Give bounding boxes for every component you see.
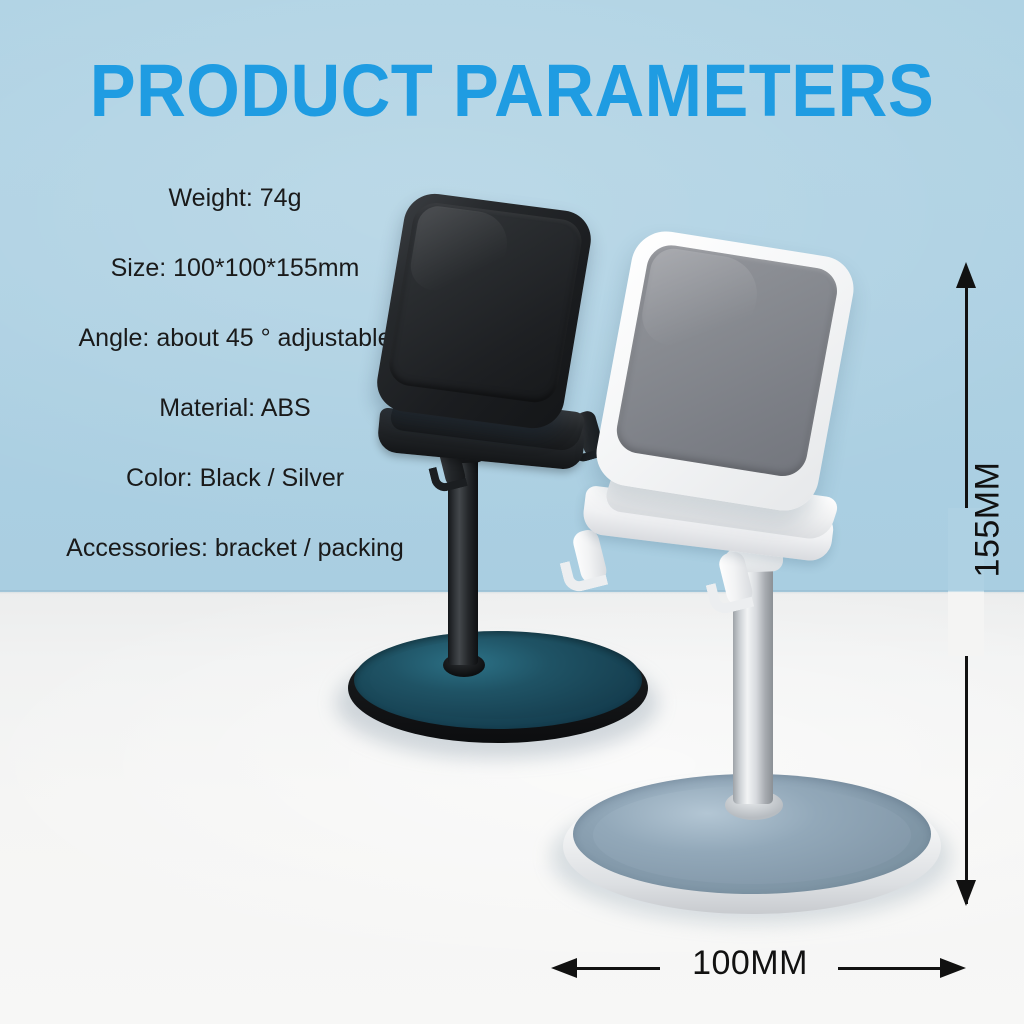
product-phone-stand-silver	[545, 238, 965, 938]
page-title: PRODUCT PARAMETERS	[36, 48, 988, 133]
width-dimension-label: 100MM	[655, 944, 845, 983]
width-dimension-line-right	[838, 967, 946, 970]
height-arrow-up-icon	[956, 262, 976, 288]
silver-stand-back-panel	[591, 227, 859, 516]
height-dimension-label: 155MM	[969, 420, 1008, 620]
product-parameters-infographic: PRODUCT PARAMETERS Weight: 74g Size: 100…	[0, 0, 1024, 1024]
width-arrow-right-icon	[940, 958, 966, 978]
width-arrow-left-icon	[551, 958, 577, 978]
silver-stand-hook-left	[571, 528, 609, 587]
height-arrow-down-icon	[956, 880, 976, 906]
